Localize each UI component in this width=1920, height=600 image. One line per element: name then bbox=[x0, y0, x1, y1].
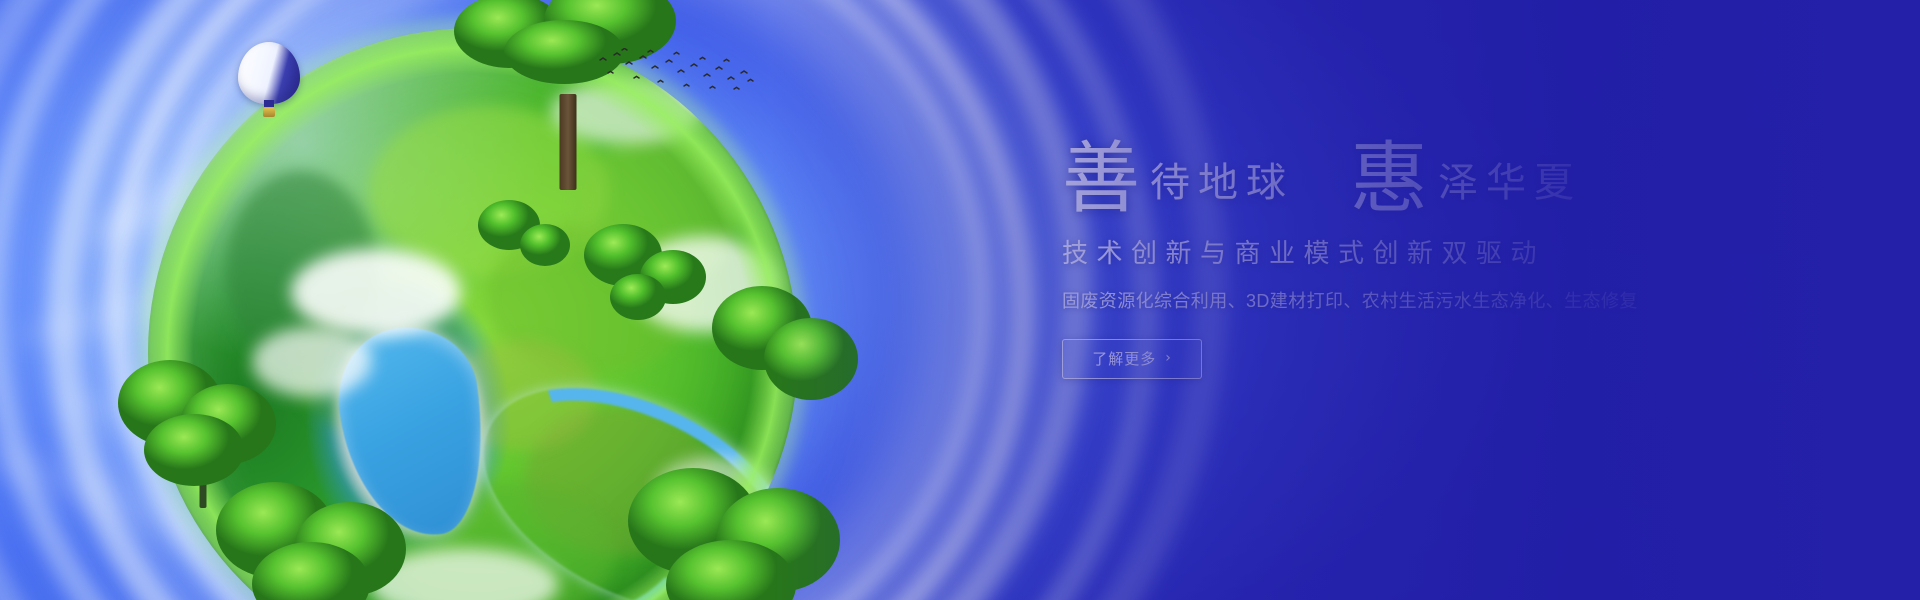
hero-banner: 善 待地球 惠 泽华夏 技术创新与商业模式创新双驱动 固废资源化综合利用、3D建… bbox=[0, 0, 1920, 600]
balloon-neck bbox=[264, 100, 274, 107]
tree-icon bbox=[448, 0, 688, 190]
hot-air-balloon-icon bbox=[238, 42, 300, 118]
right-gradient-overlay bbox=[770, 0, 1920, 600]
balloon-basket bbox=[263, 108, 275, 117]
tree-icon bbox=[208, 458, 418, 600]
bird-flock-icon bbox=[596, 48, 756, 94]
balloon-envelope bbox=[238, 42, 300, 104]
tree-trunk bbox=[560, 94, 577, 190]
